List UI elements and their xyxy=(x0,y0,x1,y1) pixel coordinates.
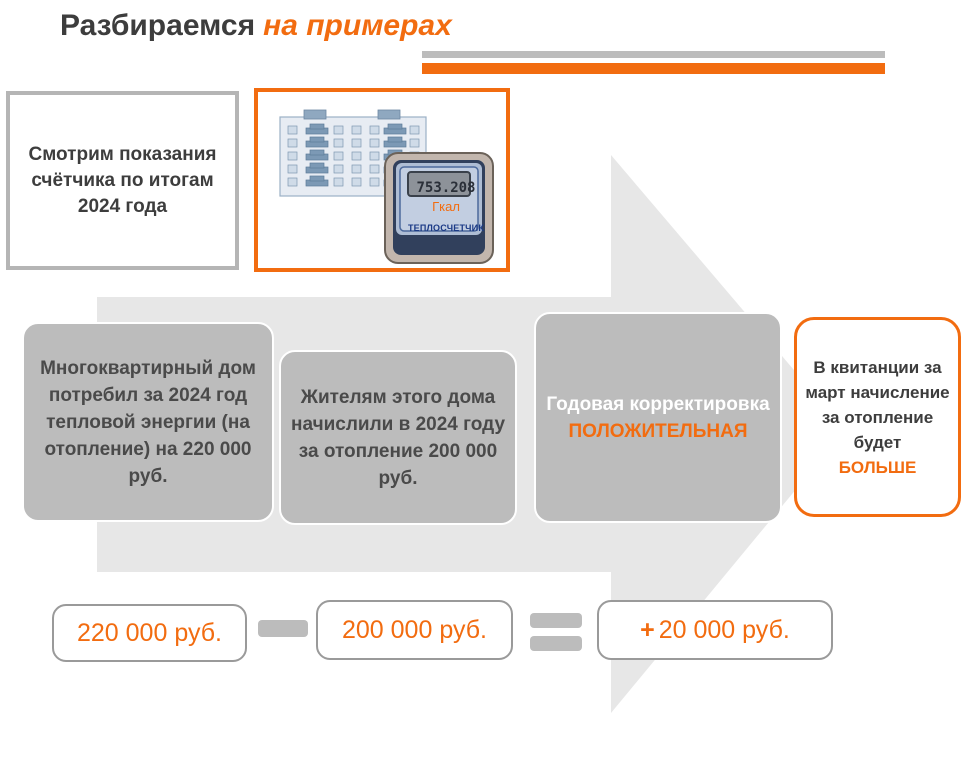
page-title: Разбираемсяна примерах xyxy=(60,6,452,46)
equation-result-value: 20 000 руб. xyxy=(659,616,790,644)
equals-sign-icon xyxy=(530,613,582,651)
decorative-bar-orange xyxy=(422,63,885,74)
minus-sign-icon xyxy=(258,620,308,637)
infographic-canvas: Разбираемсяна примерах Смотрим показания… xyxy=(0,0,969,757)
flow-card-result-text: В квитанции за март начисление за отопле… xyxy=(797,355,958,480)
equals-bar-top xyxy=(530,613,582,628)
meter-unit-label: Гкал xyxy=(410,199,482,214)
page-title-part1: Разбираемся xyxy=(60,9,255,42)
intro-note-text: Смотрим показания счётчика по итогам 202… xyxy=(10,142,235,220)
meter-brand-label: ТЕПЛОСЧЕТЧИК xyxy=(398,223,494,233)
flow-card-correction-highlight: ПОЛОЖИТЕЛЬНАЯ xyxy=(546,418,769,445)
equation-operand-b: 200 000 руб. xyxy=(316,600,513,660)
flow-card-correction-label: Годовая корректировка xyxy=(546,394,769,415)
flow-card-result: В квитанции за март начисление за отопле… xyxy=(794,317,961,517)
decorative-bar-gray xyxy=(422,51,885,58)
flow-card-consumption-text: Многоквартирный дом потребил за 2024 год… xyxy=(24,355,272,490)
flow-card-correction-text: Годовая корректировка ПОЛОЖИТЕЛЬНАЯ xyxy=(536,391,779,445)
equation-result-plus: + xyxy=(640,616,655,644)
flow-card-billed-text: Жителям этого дома начислили в 2024 году… xyxy=(281,384,515,492)
flow-card-consumption: Многоквартирный дом потребил за 2024 год… xyxy=(22,322,274,522)
page-title-part2: на примерах xyxy=(263,9,452,42)
flow-card-result-highlight: БОЛЬШЕ xyxy=(805,455,950,480)
equation-result-text: +20 000 руб. xyxy=(640,615,790,645)
equals-bar-bottom xyxy=(530,636,582,651)
flow-card-billed: Жителям этого дома начислили в 2024 году… xyxy=(279,350,517,525)
flow-card-correction: Годовая корректировка ПОЛОЖИТЕЛЬНАЯ xyxy=(534,312,782,523)
meter-photo-box: 753.208 Гкал ТЕПЛОСЧЕТЧИК xyxy=(254,88,510,272)
equation-operand-a: 220 000 руб. xyxy=(52,604,247,662)
equation-operand-a-value: 220 000 руб. xyxy=(77,618,222,648)
equation-operand-b-value: 200 000 руб. xyxy=(342,615,487,645)
intro-note-box: Смотрим показания счётчика по итогам 202… xyxy=(6,91,239,270)
meter-reading-value: 753.208 xyxy=(410,180,482,196)
equation-result: +20 000 руб. xyxy=(597,600,833,660)
flow-card-result-label: В квитанции за март начисление за отопле… xyxy=(805,358,949,452)
